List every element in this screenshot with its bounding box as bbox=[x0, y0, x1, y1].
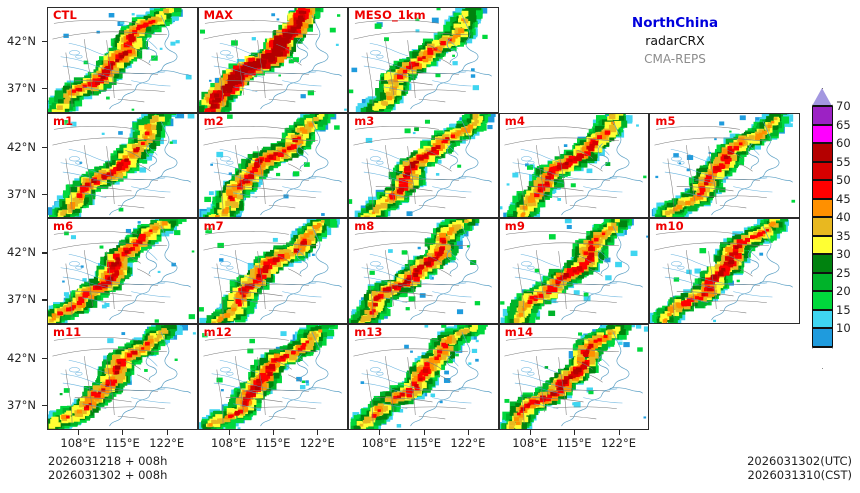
colorbar-band-55 bbox=[812, 162, 833, 181]
lon-tick-mark bbox=[317, 430, 318, 435]
colorbar-tick-65: 65 bbox=[836, 120, 851, 131]
panel-label: MESO_1km bbox=[354, 9, 426, 22]
lat-tick-label: 42°N bbox=[0, 245, 36, 259]
lon-tick-mark bbox=[122, 430, 123, 435]
lat-tick-label: 42°N bbox=[0, 351, 36, 365]
reflectivity-cells bbox=[349, 8, 488, 112]
panel-label: m2 bbox=[204, 115, 224, 128]
panel-label: m7 bbox=[204, 220, 224, 233]
panel-label: m9 bbox=[505, 220, 525, 233]
map-panel-max[interactable]: MAX bbox=[198, 7, 349, 113]
colorbar-band-50 bbox=[812, 180, 833, 199]
radar-field bbox=[199, 219, 348, 323]
reflectivity-cells bbox=[351, 325, 488, 429]
map-panel-m7[interactable]: m7 bbox=[198, 218, 349, 324]
colorbar-tick-70: 70 bbox=[836, 101, 851, 112]
panel-label: m5 bbox=[655, 115, 675, 128]
colorbar-band-10 bbox=[812, 328, 833, 347]
lon-tick-mark bbox=[229, 430, 230, 435]
colorbar-tick-15: 15 bbox=[836, 305, 851, 316]
reflectivity-cells bbox=[48, 219, 195, 323]
radar-field bbox=[349, 219, 498, 323]
lon-tick-mark bbox=[167, 430, 168, 435]
lon-tick-mark bbox=[574, 430, 575, 435]
figure-title-block: NorthChina radarCRX CMA-REPS bbox=[560, 14, 790, 68]
map-panel-m13[interactable]: m13 bbox=[348, 324, 499, 430]
reflectivity-cells bbox=[199, 114, 339, 218]
lat-tick-mark bbox=[42, 299, 47, 300]
panel-label: m13 bbox=[354, 326, 382, 339]
footer-left-line2: 2026031302 + 008h bbox=[48, 468, 167, 482]
lat-tick-mark bbox=[42, 405, 47, 406]
map-panel-meso_1km[interactable]: MESO_1km bbox=[348, 7, 499, 113]
map-panel-m8[interactable]: m8 bbox=[348, 218, 499, 324]
map-panel-m1[interactable]: m1 bbox=[47, 113, 198, 219]
lat-tick-label: 37°N bbox=[0, 81, 36, 95]
lon-tick-label: 122°E bbox=[139, 436, 195, 450]
radar-field bbox=[500, 325, 649, 429]
lat-tick-mark bbox=[42, 252, 47, 253]
radar-field bbox=[48, 114, 197, 218]
reflectivity-cells bbox=[349, 114, 496, 218]
colorbar-band-40 bbox=[812, 217, 833, 236]
colorbar-band-70 bbox=[812, 106, 833, 125]
lon-tick-label: 122°E bbox=[289, 436, 345, 450]
reflectivity-cells bbox=[199, 219, 340, 323]
radar-field bbox=[500, 114, 649, 218]
lat-tick-mark bbox=[42, 147, 47, 148]
radar-field bbox=[349, 114, 498, 218]
radar-field bbox=[199, 8, 348, 112]
reflectivity-cells bbox=[48, 325, 196, 429]
map-panel-m6[interactable]: m6 bbox=[47, 218, 198, 324]
panel-label: MAX bbox=[204, 9, 234, 22]
colorbar-tick-30: 30 bbox=[836, 249, 851, 260]
footer-right-line1: 2026031302(UTC) bbox=[747, 454, 852, 468]
map-panel-m4[interactable]: m4 bbox=[499, 113, 650, 219]
colorbar-tick-55: 55 bbox=[836, 157, 851, 168]
radar-field bbox=[650, 114, 799, 218]
panel-label: m11 bbox=[53, 326, 81, 339]
panel-label: m3 bbox=[354, 115, 374, 128]
lat-tick-mark bbox=[42, 358, 47, 359]
map-panel-m10[interactable]: m10 bbox=[649, 218, 800, 324]
map-panel-m3[interactable]: m3 bbox=[348, 113, 499, 219]
radar-field bbox=[500, 219, 649, 323]
title-model: CMA-REPS bbox=[560, 50, 790, 68]
reflectivity-cells bbox=[500, 114, 646, 218]
radar-field bbox=[349, 325, 498, 429]
lon-tick-label: 122°E bbox=[440, 436, 496, 450]
map-panel-m2[interactable]: m2 bbox=[198, 113, 349, 219]
colorbar-tick-labels: 10152025303540455055606570 bbox=[836, 88, 860, 369]
reflectivity-cells bbox=[199, 8, 347, 112]
reflectivity-cells bbox=[650, 219, 789, 323]
title-variable: radarCRX bbox=[560, 32, 790, 50]
reflectivity-cells bbox=[652, 114, 795, 218]
panel-label: m4 bbox=[505, 115, 525, 128]
colorbar-tick-25: 25 bbox=[836, 268, 851, 279]
colorbar-band-35 bbox=[812, 236, 833, 255]
lat-tick-mark bbox=[42, 88, 47, 89]
panel-label: m12 bbox=[204, 326, 232, 339]
reflectivity-cells bbox=[48, 8, 192, 112]
radar-field bbox=[650, 219, 799, 323]
map-panel-m12[interactable]: m12 bbox=[198, 324, 349, 430]
lat-tick-mark bbox=[42, 194, 47, 195]
title-region: NorthChina bbox=[560, 14, 790, 32]
panel-label: m1 bbox=[53, 115, 73, 128]
colorbar-tick-60: 60 bbox=[836, 138, 851, 149]
colorbar-under-arrow bbox=[812, 347, 833, 369]
colorbar-tick-10: 10 bbox=[836, 323, 851, 334]
colorbar-tick-45: 45 bbox=[836, 194, 851, 205]
footer-right-line2: 2026031310(CST) bbox=[748, 468, 853, 482]
radar-field bbox=[349, 8, 498, 112]
lon-tick-label: 122°E bbox=[591, 436, 647, 450]
footer-left-line1: 2026031218 + 008h bbox=[48, 454, 167, 468]
colorbar-band-15 bbox=[812, 310, 833, 329]
lat-tick-label: 37°N bbox=[0, 398, 36, 412]
map-panel-m11[interactable]: m11 bbox=[47, 324, 198, 430]
lat-tick-label: 42°N bbox=[0, 34, 36, 48]
colorbar-band-65 bbox=[812, 125, 833, 144]
reflectivity-cells bbox=[500, 219, 648, 323]
panel-label: CTL bbox=[53, 9, 77, 22]
lon-tick-mark bbox=[619, 430, 620, 435]
map-panel-m14[interactable]: m14 bbox=[499, 324, 650, 430]
lat-tick-label: 37°N bbox=[0, 187, 36, 201]
lon-tick-mark bbox=[78, 430, 79, 435]
lat-tick-mark bbox=[42, 41, 47, 42]
lon-tick-mark bbox=[424, 430, 425, 435]
colorbar-band-20 bbox=[812, 291, 833, 310]
map-panel-m5[interactable]: m5 bbox=[649, 113, 800, 219]
colorbar-band-30 bbox=[812, 254, 833, 273]
colorbar-tick-20: 20 bbox=[836, 286, 851, 297]
radar-field bbox=[199, 114, 348, 218]
reflectivity-cells bbox=[500, 325, 649, 429]
colorbar-band-60 bbox=[812, 143, 833, 162]
panel-label: m6 bbox=[53, 220, 73, 233]
panel-label: m14 bbox=[505, 326, 533, 339]
map-panel-m9[interactable]: m9 bbox=[499, 218, 650, 324]
colorbar bbox=[812, 88, 833, 369]
lon-tick-mark bbox=[468, 430, 469, 435]
reflectivity-cells bbox=[349, 219, 480, 323]
panel-label: m10 bbox=[655, 220, 683, 233]
panel-label: m8 bbox=[354, 220, 374, 233]
colorbar-tick-50: 50 bbox=[836, 175, 851, 186]
lat-tick-label: 42°N bbox=[0, 140, 36, 154]
radar-field bbox=[48, 219, 197, 323]
lat-tick-label: 37°N bbox=[0, 292, 36, 306]
reflectivity-cells bbox=[48, 114, 194, 218]
lon-tick-mark bbox=[530, 430, 531, 435]
lon-tick-mark bbox=[379, 430, 380, 435]
radar-field bbox=[48, 8, 197, 112]
radar-field bbox=[199, 325, 348, 429]
lon-tick-mark bbox=[273, 430, 274, 435]
colorbar-band-25 bbox=[812, 273, 833, 292]
colorbar-tick-40: 40 bbox=[836, 212, 851, 223]
colorbar-tick-35: 35 bbox=[836, 231, 851, 242]
radar-ensemble-figure: CTLMAXMESO_1kmm1m2m3m4m5m6m7m8m9m10m11m1… bbox=[0, 0, 860, 493]
radar-field bbox=[48, 325, 197, 429]
reflectivity-cells bbox=[199, 325, 338, 429]
colorbar-band-45 bbox=[812, 199, 833, 218]
map-panel-ctl[interactable]: CTL bbox=[47, 7, 198, 113]
